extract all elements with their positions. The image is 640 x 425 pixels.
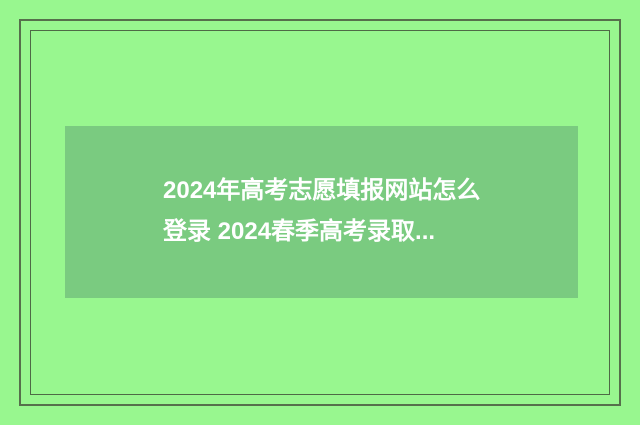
- page-title: 2024年高考志愿填报网站怎么 登录 2024春季高考录取...: [163, 170, 563, 252]
- content-panel: 2024年高考志愿填报网站怎么 登录 2024春季高考录取...: [65, 126, 578, 298]
- placeholder-card: 2024年高考志愿填报网站怎么 登录 2024春季高考录取...: [0, 0, 640, 425]
